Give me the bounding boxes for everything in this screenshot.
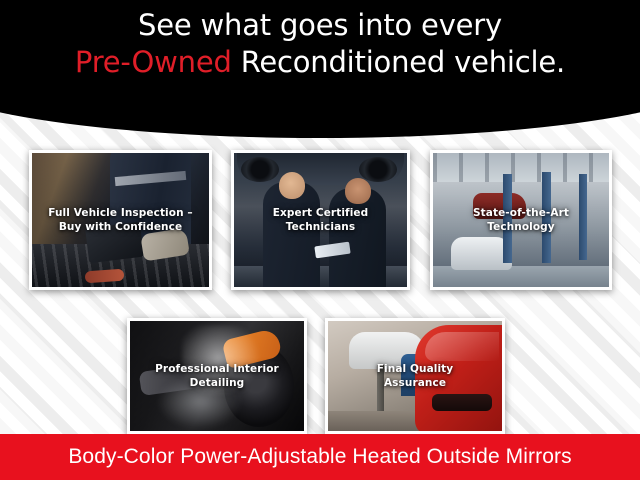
red-car-grille-shape [432, 394, 491, 412]
card-label-line-2: Technology [439, 220, 603, 234]
feature-card-final-quality-assurance[interactable]: Final Quality Assurance [325, 318, 505, 434]
card-label-line-1: Full Vehicle Inspection – [38, 206, 203, 220]
female-technician-head-shape [345, 178, 371, 203]
engine-hose-shape [85, 268, 125, 283]
feature-card-expert-certified-technicians[interactable]: Expert Certified Technicians [231, 150, 410, 290]
card-label-line-1: Professional Interior [136, 362, 298, 376]
red-car-hood-highlight-shape [425, 332, 498, 361]
feature-card-full-vehicle-inspection[interactable]: Full Vehicle Inspection – Buy with Confi… [29, 150, 212, 290]
header-banner: See what goes into every Pre-Owned Recon… [0, 0, 640, 138]
header-content: See what goes into every Pre-Owned Recon… [0, 0, 640, 138]
card-photo: Final Quality Assurance [328, 321, 502, 431]
card-label-line-1: Final Quality [334, 362, 496, 376]
card-label-line-2: Detailing [136, 376, 298, 390]
card-label-line-2: Buy with Confidence [38, 220, 203, 234]
footer-banner: Body-Color Power-Adjustable Heated Outsi… [0, 434, 640, 480]
headline-line-2: Pre-Owned Reconditioned vehicle. [0, 44, 640, 81]
card-photo: Expert Certified Technicians [234, 153, 407, 287]
card-label-line-1: State-of-the-Art [439, 206, 603, 220]
headline-accent-text: Pre-Owned [75, 45, 232, 79]
headline-line-1: See what goes into every [0, 7, 640, 44]
promo-graphic: See what goes into every Pre-Owned Recon… [0, 0, 640, 480]
card-photo: State-of-the-Art Technology [433, 153, 609, 287]
footer-feature-text: Body-Color Power-Adjustable Heated Outsi… [68, 445, 571, 469]
page-title: See what goes into every Pre-Owned Recon… [0, 7, 640, 81]
male-technician-head-shape [279, 172, 305, 199]
card-label: State-of-the-Art Technology [433, 206, 609, 234]
card-label: Expert Certified Technicians [234, 206, 407, 234]
card-photo: Full Vehicle Inspection – Buy with Confi… [32, 153, 209, 287]
feature-card-state-of-the-art-technology[interactable]: State-of-the-Art Technology [430, 150, 612, 290]
card-photo: Professional Interior Detailing [130, 321, 304, 431]
card-label-line-1: Expert Certified [240, 206, 401, 220]
card-label: Final Quality Assurance [328, 362, 502, 390]
card-label: Full Vehicle Inspection – Buy with Confi… [32, 206, 209, 234]
headline-line-2-rest: Reconditioned vehicle. [232, 45, 565, 79]
card-label-line-2: Technicians [240, 220, 401, 234]
card-label-line-2: Assurance [334, 376, 496, 390]
card-label: Professional Interior Detailing [130, 362, 304, 390]
feature-card-professional-interior-detailing[interactable]: Professional Interior Detailing [127, 318, 307, 434]
